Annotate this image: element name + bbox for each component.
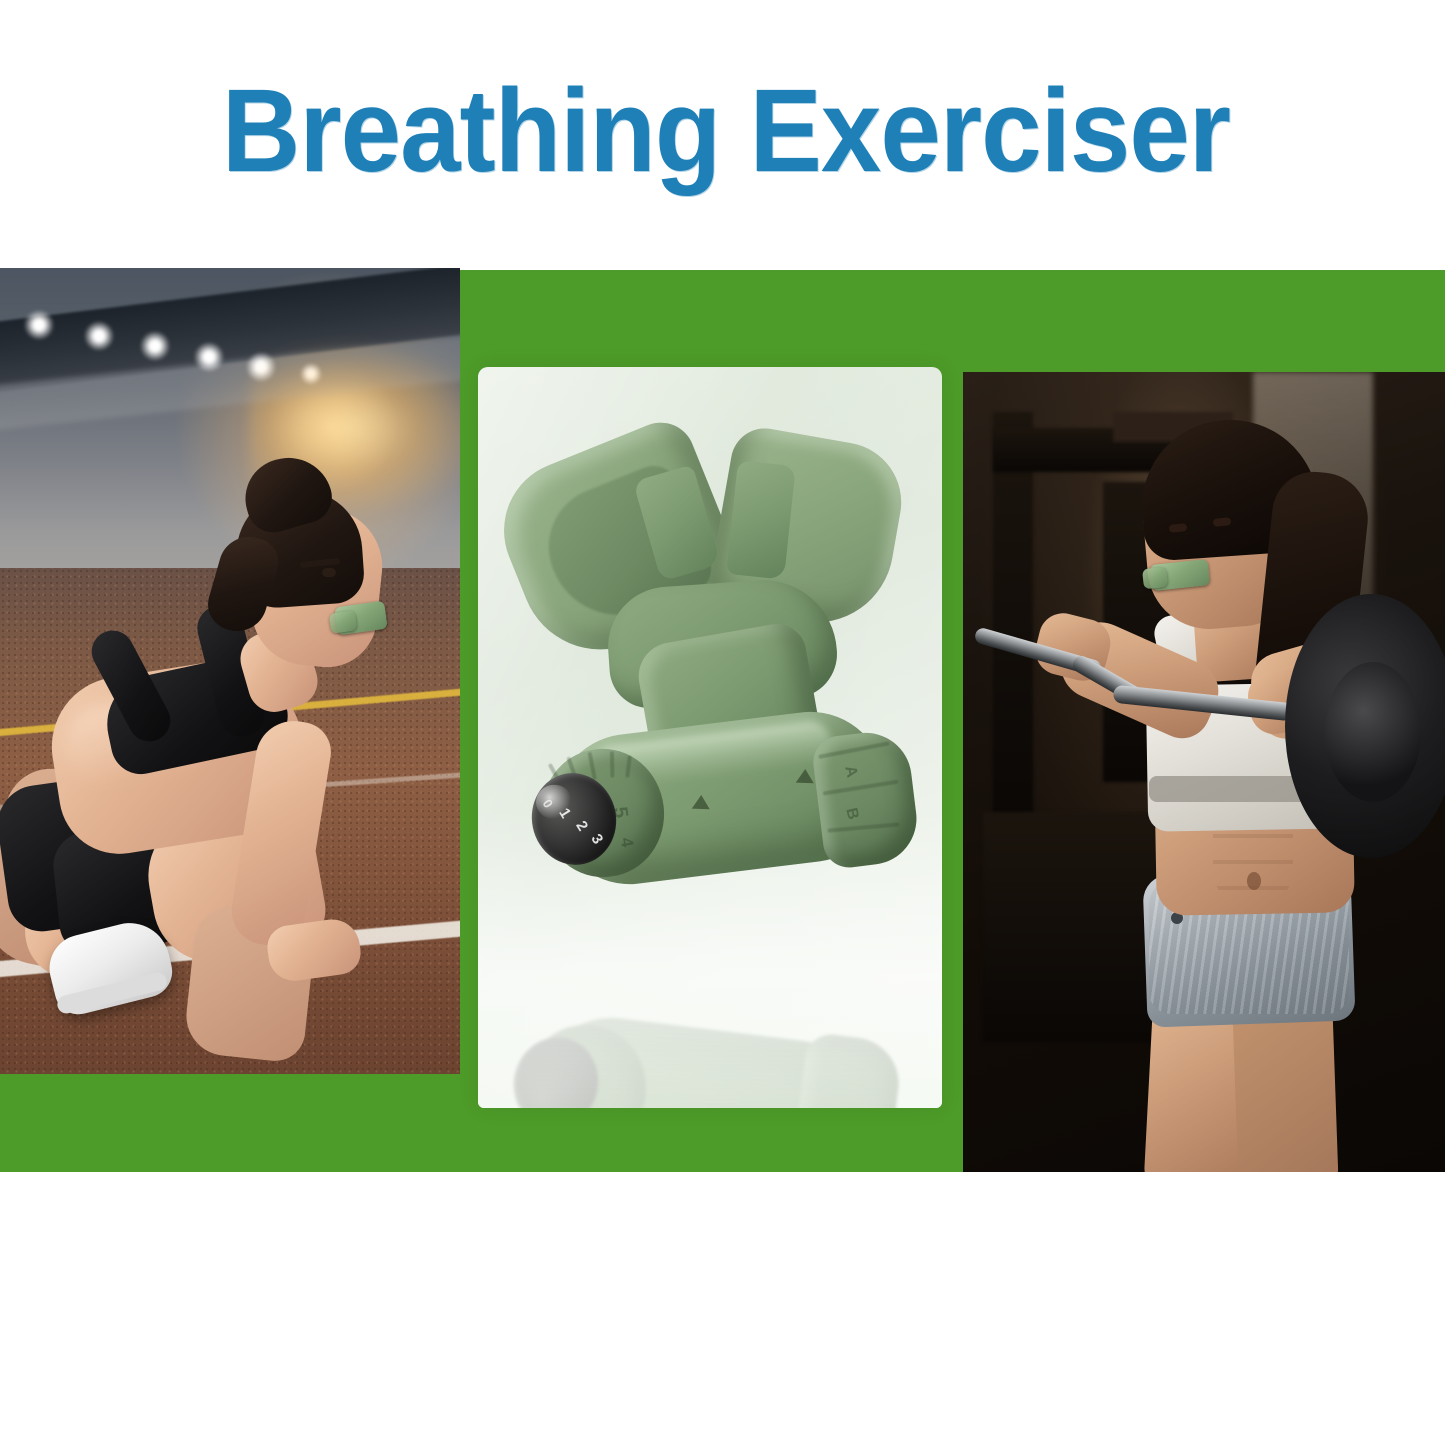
- weight-plate-inner: [1325, 662, 1421, 802]
- dial-digit: A: [840, 764, 860, 779]
- page-title: Breathing Exerciser: [221, 72, 1229, 190]
- athlete-eye: [322, 568, 336, 577]
- dial-ridge: [625, 755, 632, 777]
- sprinter-photo: [0, 268, 460, 1074]
- dial-ridge: [827, 822, 899, 832]
- endcap-digit: 3: [587, 831, 606, 847]
- lifter-navel: [1247, 872, 1261, 890]
- mouthpiece-bite-tab: [726, 460, 796, 579]
- breathing-exerciser-mouthpiece: [329, 610, 358, 633]
- breathing-exerciser-device: 5 4 1 2 3 0 A B: [496, 437, 926, 907]
- pointer-marker-icon: [796, 769, 814, 784]
- product-photo: 5 4 1 2 3 0 A B: [478, 367, 942, 1108]
- product-banner: Breathing Exerciser: [0, 0, 1445, 1445]
- device-reflection: [496, 879, 926, 1108]
- dial-digit: 4: [616, 836, 637, 848]
- exhale-resistance-dial[interactable]: A B: [810, 728, 921, 871]
- dial-ridge: [818, 741, 889, 759]
- pointer-marker-icon: [692, 795, 710, 810]
- dial-ridge: [823, 780, 899, 796]
- endcap-digit: 2: [572, 818, 591, 834]
- dial-ridge: [610, 751, 614, 777]
- dial-digit: B: [841, 806, 861, 821]
- breathing-exerciser-mouthpiece: [1142, 567, 1168, 589]
- sprinter-figure: [0, 268, 460, 1074]
- title-bar: Breathing Exerciser: [0, 0, 1445, 268]
- lifter-figure: [963, 372, 1445, 1172]
- gym-photo: [963, 372, 1445, 1172]
